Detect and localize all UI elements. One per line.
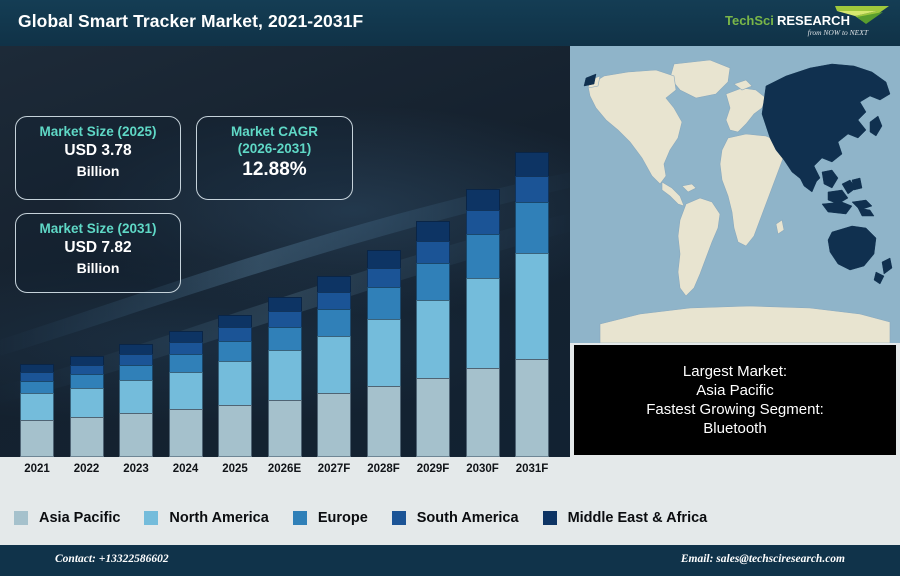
bar-stack — [416, 221, 450, 457]
x-axis-label-2030F: 2030F — [455, 463, 511, 475]
bar-segment-asia-pacific — [20, 420, 54, 457]
callout-line-4: Bluetooth — [703, 419, 766, 438]
world-map — [570, 46, 900, 343]
bar-segment-middle-east-africa — [515, 152, 549, 176]
x-axis-label-2027F: 2027F — [306, 463, 362, 475]
bar-stack — [466, 189, 500, 457]
x-axis-label-2021: 2021 — [9, 463, 65, 475]
bar-segment-europe — [466, 234, 500, 278]
bar-segment-north-america — [218, 361, 252, 404]
chart-panel: Market Size (2025) USD 3.78 Billion Mark… — [0, 46, 570, 457]
svg-text:RESEARCH: RESEARCH — [777, 13, 850, 28]
bar-segment-north-america — [515, 253, 549, 358]
callout-line-3: Fastest Growing Segment: — [646, 400, 824, 419]
bar-segment-south-america — [218, 327, 252, 341]
bar-stack — [218, 315, 252, 457]
bar-stack — [317, 276, 351, 457]
bar-segment-south-america — [367, 268, 401, 287]
bar-segment-asia-pacific — [515, 359, 549, 457]
bar-segment-asia-pacific — [268, 400, 302, 457]
bar-segment-asia-pacific — [466, 368, 500, 457]
bar-segment-asia-pacific — [367, 386, 401, 457]
bar-segment-europe — [70, 374, 104, 387]
bar-segment-middle-east-africa — [70, 356, 104, 365]
bar-stack — [169, 331, 203, 457]
bar-stack — [20, 364, 54, 457]
x-axis-label-2031F: 2031F — [504, 463, 560, 475]
footer-contact: Contact: +13322586602 — [55, 553, 169, 565]
bar-segment-europe — [515, 202, 549, 253]
bar-segment-north-america — [20, 393, 54, 420]
bar-segment-south-america — [169, 342, 203, 354]
legend-swatch-icon — [392, 511, 406, 525]
bar-segment-europe — [119, 365, 153, 380]
legend-swatch-icon — [14, 511, 28, 525]
bar-segment-north-america — [70, 388, 104, 418]
bar-segment-middle-east-africa — [317, 276, 351, 292]
bar-segment-north-america — [268, 350, 302, 400]
footer-email: Email: sales@techsciresearch.com — [681, 553, 845, 565]
bar-segment-europe — [169, 354, 203, 372]
bar-segment-south-america — [416, 241, 450, 262]
x-axis-label-2024: 2024 — [158, 463, 214, 475]
bar-segment-north-america — [169, 372, 203, 410]
bar-segment-north-america — [119, 380, 153, 414]
bar-segment-asia-pacific — [119, 413, 153, 457]
bar-segment-north-america — [416, 300, 450, 378]
logo-tagline: from NOW to NEXT — [808, 28, 868, 37]
bar-segment-asia-pacific — [218, 405, 252, 457]
x-axis-labels: 202120222023202420252026E2027F2028F2029F… — [0, 457, 570, 490]
legend-item-asia-pacific[interactable]: Asia Pacific — [14, 510, 120, 526]
bar-segment-middle-east-africa — [466, 189, 500, 211]
infographic-root: Global Smart Tracker Market, 2021-2031F … — [0, 0, 900, 576]
bar-segment-middle-east-africa — [416, 221, 450, 241]
x-axis-label-2028F: 2028F — [356, 463, 412, 475]
bar-segment-south-america — [317, 292, 351, 309]
legend-swatch-icon — [293, 511, 307, 525]
bar-stack — [119, 344, 153, 457]
bar-segment-europe — [416, 263, 450, 300]
bar-segment-north-america — [466, 278, 500, 369]
legend-item-south-america[interactable]: South America — [392, 510, 519, 526]
bar-segment-north-america — [317, 336, 351, 393]
callout-line-1: Largest Market: — [683, 362, 787, 381]
x-axis-label-2029F: 2029F — [405, 463, 461, 475]
bar-segment-middle-east-africa — [20, 364, 54, 372]
bar-segment-europe — [367, 287, 401, 319]
chart-legend: Asia PacificNorth AmericaEuropeSouth Ame… — [0, 490, 900, 545]
bar-segment-middle-east-africa — [367, 250, 401, 268]
bar-segment-europe — [317, 309, 351, 336]
callout-box: Largest Market: Asia Pacific Fastest Gro… — [574, 345, 896, 455]
techsci-research-logo: TechSci RESEARCH from NOW to NEXT — [717, 3, 892, 43]
bar-segment-middle-east-africa — [119, 344, 153, 354]
stacked-bar-series — [0, 46, 570, 457]
bar-stack — [70, 356, 104, 457]
bar-segment-asia-pacific — [317, 393, 351, 457]
bar-stack — [367, 250, 401, 457]
page-title: Global Smart Tracker Market, 2021-2031F — [18, 11, 363, 32]
x-axis-label-2023: 2023 — [108, 463, 164, 475]
bar-segment-middle-east-africa — [268, 297, 302, 311]
bar-segment-south-america — [515, 176, 549, 203]
legend-swatch-icon — [144, 511, 158, 525]
x-axis-label-2022: 2022 — [59, 463, 115, 475]
legend-label: North America — [169, 510, 268, 526]
bar-segment-asia-pacific — [416, 378, 450, 457]
legend-label: Middle East & Africa — [568, 510, 708, 526]
footer-bar: Contact: +13322586602 Email: sales@techs… — [0, 545, 900, 576]
bar-segment-asia-pacific — [70, 417, 104, 457]
bar-segment-south-america — [70, 365, 104, 374]
legend-item-middle-east-africa[interactable]: Middle East & Africa — [543, 510, 708, 526]
x-axis-label-2025: 2025 — [207, 463, 263, 475]
bar-segment-middle-east-africa — [218, 315, 252, 328]
bar-segment-south-america — [119, 354, 153, 365]
bar-segment-europe — [20, 381, 54, 393]
legend-item-europe[interactable]: Europe — [293, 510, 368, 526]
bar-segment-europe — [268, 327, 302, 350]
legend-label: Asia Pacific — [39, 510, 120, 526]
legend-label: South America — [417, 510, 519, 526]
bar-segment-middle-east-africa — [169, 331, 203, 342]
x-axis-label-2026E: 2026E — [257, 463, 313, 475]
legend-swatch-icon — [543, 511, 557, 525]
svg-text:TechSci: TechSci — [725, 13, 774, 28]
bar-segment-north-america — [367, 319, 401, 386]
header-bar: Global Smart Tracker Market, 2021-2031F … — [0, 0, 900, 46]
bar-segment-south-america — [466, 210, 500, 234]
bar-stack — [515, 152, 549, 457]
bar-segment-south-america — [268, 311, 302, 326]
bar-stack — [268, 297, 302, 457]
bar-segment-europe — [218, 341, 252, 361]
callout-line-2: Asia Pacific — [696, 381, 774, 400]
legend-item-north-america[interactable]: North America — [144, 510, 268, 526]
bar-segment-asia-pacific — [169, 409, 203, 457]
legend-label: Europe — [318, 510, 368, 526]
bar-segment-south-america — [20, 372, 54, 381]
